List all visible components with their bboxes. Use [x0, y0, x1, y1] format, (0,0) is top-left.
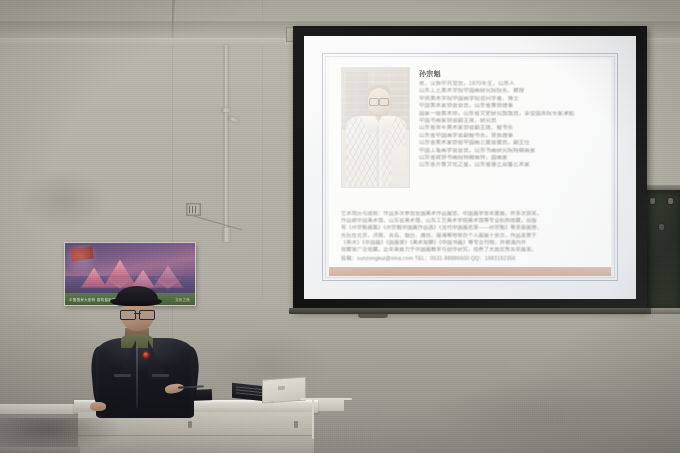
bio-line: 山东省青年美术家协会副主席、秘书长	[419, 125, 601, 132]
jacket-pocket-right	[152, 374, 169, 377]
laptop-lid-logo	[278, 386, 285, 390]
lectern-keyhole[interactable]	[188, 421, 192, 428]
body-line: 艺术简历与成就：作品多次参加全国美术作品展览、中国画学会年度展，并多次获奖，	[341, 211, 599, 218]
portrait-washout-overlay	[342, 68, 409, 187]
wall-conduit-pipe	[224, 45, 228, 240]
bio-line: 中国书画家协会副主席，研究员	[419, 118, 601, 125]
glasses-bridge	[134, 313, 141, 314]
classroom-presentation-photo: 孙宗魁 男，汉族中共党员，1970年生，山东人 山东工艺美术学院中国画研究院院长…	[0, 0, 680, 453]
wall-seam	[262, 0, 263, 300]
chalkboard-clip[interactable]	[659, 224, 664, 230]
lapel-badge	[143, 352, 149, 358]
slide-content: 孙宗魁 男，汉族中共党员，1970年生，山东人 山东工艺美术学院中国画研究院院长…	[329, 59, 611, 276]
chalkboard-clip[interactable]	[650, 198, 655, 204]
conduit-coupling	[222, 108, 230, 112]
lectern-right-extension	[314, 399, 344, 411]
body-line: 先后在北京、济南、青岛、烟台、潍坊、威海等地举办个人画展十余次，作品发表于	[341, 233, 599, 240]
eyeglasses-icon	[120, 310, 155, 318]
speaker-bio-block: 孙宗魁 男，汉族中共党员，1970年生，山东人 山东工艺美术学院中国画研究院院长…	[419, 67, 601, 209]
laptop-power-cable	[312, 399, 314, 439]
projection-screen: 孙宗魁 男，汉族中共党员，1970年生，山东人 山东工艺美术学院中国画研究院院长…	[293, 26, 647, 310]
presenter	[92, 286, 196, 416]
floor-line	[0, 447, 80, 453]
presenter-jacket	[96, 338, 194, 418]
poster-light-burst	[67, 245, 103, 275]
body-line: 收藏家广泛收藏。近年来致力于中国画教学与创作研究，培养了大批优秀青年画家。	[341, 247, 599, 254]
wall-smudge	[430, 370, 630, 450]
wall-outlet-box[interactable]	[186, 203, 201, 216]
lens-left	[120, 310, 136, 320]
slide-accent-bar	[329, 267, 611, 276]
body-line: 有《孙宗魁画集》《孙宗魁中国画作品选》《当代中国画名家——孙宗魁》等多部画册，	[341, 225, 599, 232]
chalkboard	[642, 190, 680, 312]
screen-weight-bar	[289, 308, 651, 314]
laptop-power-cable	[300, 398, 352, 400]
bio-line: 山东省美术家协会中国画艺委会委员，副主任	[419, 140, 601, 147]
bio-line: 中国美术家协会会员，山东省美协理事	[419, 103, 601, 110]
projection-screen-surface: 孙宗魁 男，汉族中共党员，1970年生，山东人 山东工艺美术学院中国画研究院院长…	[304, 36, 636, 299]
jacket-pocket-left	[114, 374, 131, 377]
lens-right	[139, 310, 155, 320]
lectern-keyhole[interactable]	[294, 421, 298, 428]
contact-line: 投稿：sunzongkui@sina.com TEL：0531-88886600…	[341, 255, 599, 263]
presenter-left-hand	[90, 402, 106, 411]
slide-header-region: 孙宗魁 男，汉族中共党员，1970年生，山东人 山东工艺美术学院中国画研究院院长…	[329, 59, 611, 209]
lectern-left-extension	[0, 404, 78, 414]
speaker-portrait-photo	[341, 67, 410, 188]
bio-line: 山东工艺美术学院中国画研究院院长、教授	[419, 88, 601, 95]
bio-line: 山东省中国画学会副秘书长，常务理事	[419, 133, 601, 140]
bio-line: 山东省齐鲁文化之星，山东省德艺双馨艺术家	[419, 162, 601, 169]
bio-line: 男，汉族中共党员，1970年生，山东人	[419, 81, 601, 88]
jacket-zipper	[136, 346, 138, 408]
screen-pull-grip[interactable]	[358, 314, 388, 318]
slide-body-block: 艺术简历与成就：作品多次参加全国美术作品展览、中国画学会年度展，并多次获奖， 作…	[341, 211, 599, 263]
conduit-box	[223, 228, 230, 242]
body-line: 《美术》《中国画》《国画家》《美术观察》《中国书画》等专业刊物，并被海内外	[341, 240, 599, 247]
cap-brim	[110, 298, 162, 306]
slide-title: 孙宗魁	[419, 70, 601, 79]
body-line: 作品被中国美术馆、山东省美术馆、山东工艺美术学院美术馆等专业机构收藏，出版	[341, 218, 599, 225]
bio-line: 中央美术学院中国画学院访问学者、博士	[419, 96, 601, 103]
bio-line: 国家一级美术师，山东省文史研究馆馆员，享受国务院专家津贴	[419, 111, 601, 118]
chalkboard-clip[interactable]	[668, 198, 673, 204]
wall-smudge	[18, 170, 108, 230]
bio-line: 山东省政协书画院特聘画师，国画家	[419, 155, 601, 162]
bio-line: 中国工笔画学会会员，山东书画研究院特聘画家	[419, 148, 601, 155]
